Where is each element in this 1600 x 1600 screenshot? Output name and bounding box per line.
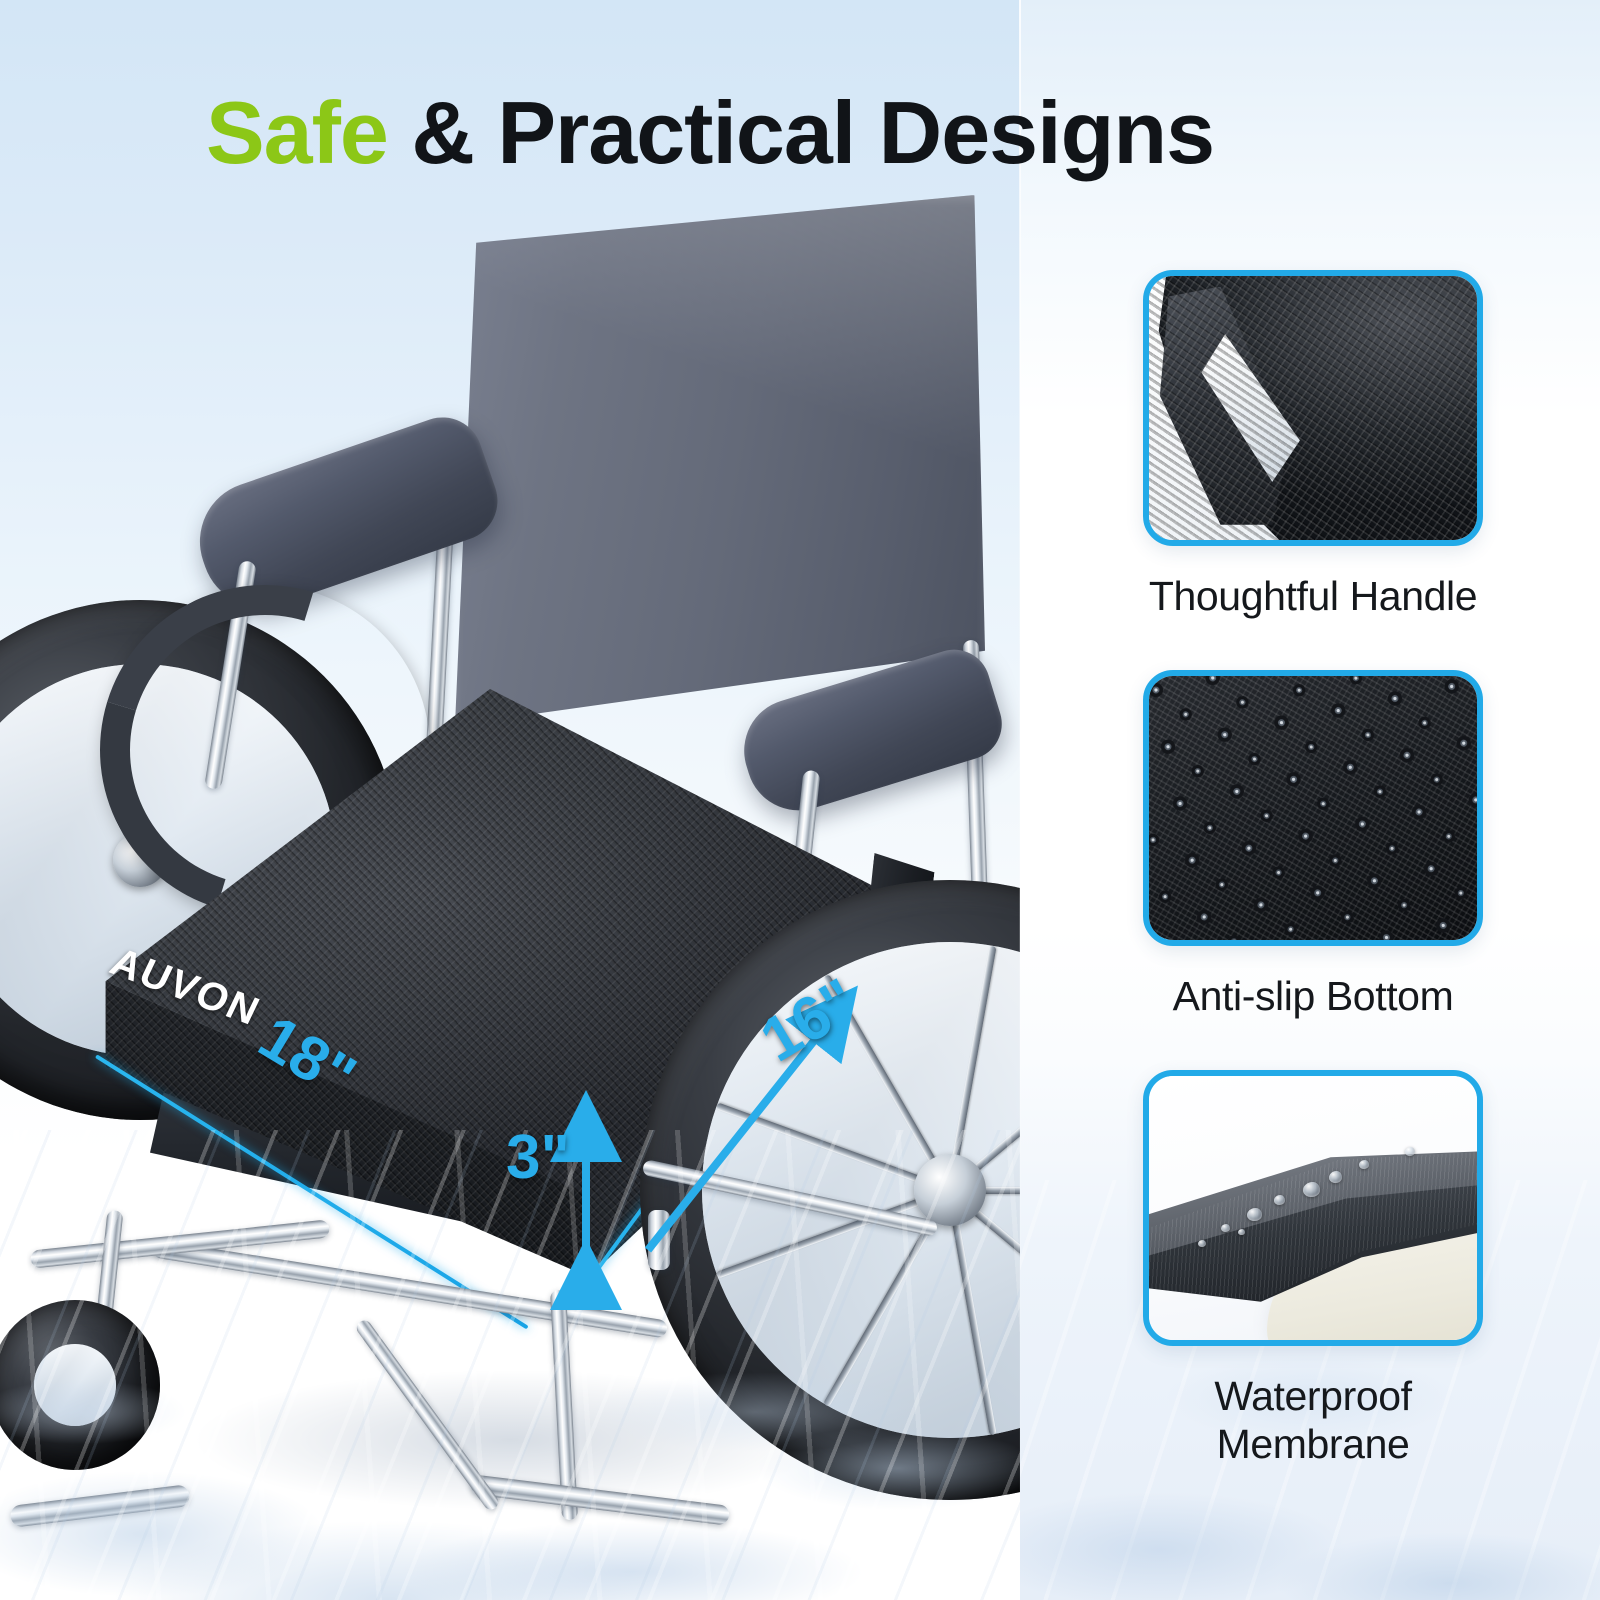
- feature-thumbnail-anti-slip: [1143, 670, 1483, 946]
- feature-card-waterproof-membrane[interactable]: Waterproof Membrane: [1143, 1070, 1483, 1469]
- feature-caption-line-2: Membrane: [1217, 1421, 1410, 1467]
- water-droplet: [1405, 1147, 1415, 1156]
- feature-caption-waterproof: Waterproof Membrane: [1143, 1372, 1483, 1469]
- mesh-texture: [1149, 276, 1477, 540]
- rim: [34, 1344, 116, 1426]
- water-droplet: [1221, 1224, 1230, 1232]
- product-photo-pane: AUVON: [0, 0, 1020, 1600]
- water-droplet: [1303, 1182, 1320, 1197]
- rim-face: [34, 1344, 116, 1426]
- water-droplet: [1274, 1195, 1285, 1205]
- feature-card-anti-slip-bottom[interactable]: Anti-slip Bottom: [1143, 670, 1483, 1020]
- hub: [914, 1154, 986, 1226]
- pane-divider: [1019, 0, 1021, 1600]
- wheelchair-backrest: [455, 195, 985, 725]
- handle-illustration: [1149, 276, 1477, 540]
- page-title-highlight: Safe: [206, 83, 388, 182]
- page-title-rest: & Practical Designs: [388, 83, 1214, 182]
- feature-card-thoughtful-handle[interactable]: Thoughtful Handle: [1143, 270, 1483, 620]
- waterproof-illustration: [1149, 1076, 1477, 1340]
- water-droplet: [1198, 1240, 1206, 1247]
- feature-caption-handle: Thoughtful Handle: [1143, 572, 1483, 620]
- page-title: Safe & Practical Designs: [0, 88, 1420, 178]
- silicone-dot-grid-offset: [1143, 670, 1483, 946]
- feature-caption-line-1: Waterproof: [1214, 1373, 1411, 1419]
- dimension-arrow-height: [560, 1090, 640, 1270]
- water-droplet: [1238, 1229, 1245, 1235]
- wheelchair-scene: AUVON: [0, 0, 1020, 1600]
- dimension-label-height: 3": [506, 1122, 570, 1193]
- feature-caption-anti-slip: Anti-slip Bottom: [1143, 972, 1483, 1020]
- anti-slip-illustration: [1149, 676, 1477, 940]
- feature-thumbnail-handle: [1143, 270, 1483, 546]
- product-infographic-canvas: AUVON: [0, 0, 1600, 1600]
- feature-thumbnail-waterproof: [1143, 1070, 1483, 1346]
